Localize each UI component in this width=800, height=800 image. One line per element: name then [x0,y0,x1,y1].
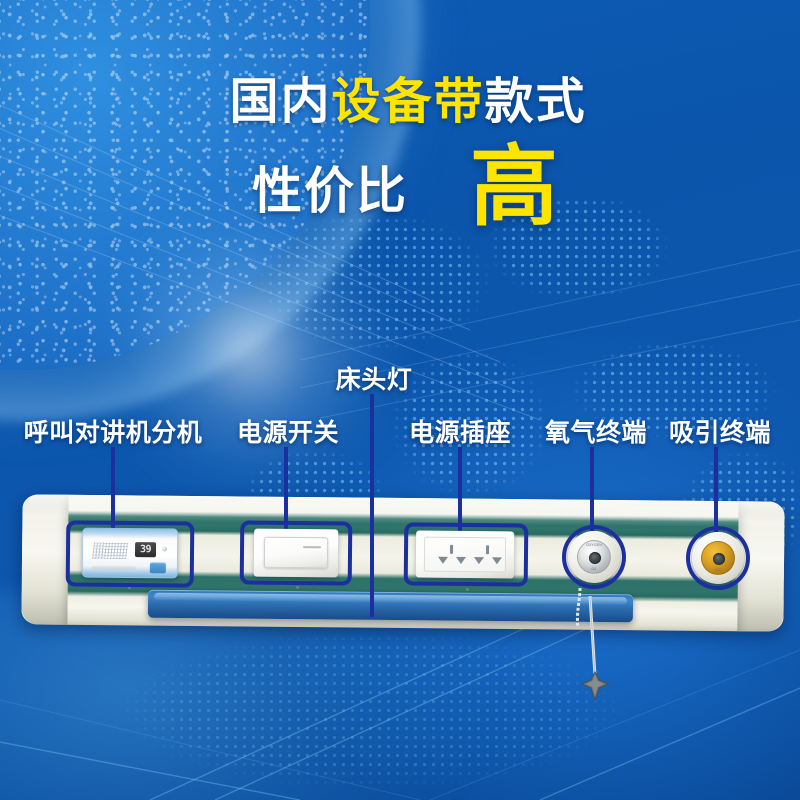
callout-nurse-call-intercom: 呼叫对讲机分机 [24,413,203,449]
bed-lamp-pull-cord[interactable] [578,596,614,706]
panel-screw [466,588,469,591]
callout-bed-lamp: 床头灯 [336,360,413,396]
banner-stage: 国内设备带款式 性价比 高 呼叫对讲机分机 电源开关 床头灯 电源插座 氧气终端… [0,0,800,800]
callout-power-switch: 电源开关 [237,413,339,449]
panel-screw [128,586,131,589]
callout-suction-terminal: 吸引终端 [669,413,771,449]
callout-labels: 呼叫对讲机分机 电源开关 床头灯 电源插座 氧气终端 吸引终端 [0,0,800,800]
callout-power-socket: 电源插座 [409,413,511,449]
panel-screw [296,586,299,589]
callout-oxygen-terminal: 氧气终端 [545,413,647,449]
